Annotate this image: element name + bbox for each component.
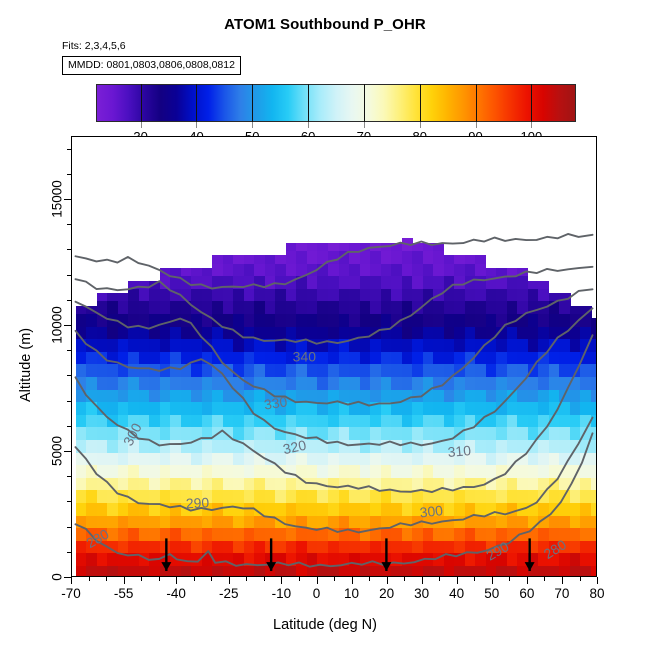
x-axis-tick bbox=[71, 577, 72, 584]
colorbar-separator bbox=[252, 84, 253, 122]
colorbar-tick bbox=[531, 122, 532, 128]
y-axis-minor-tick bbox=[67, 426, 71, 427]
colorbar-tick bbox=[476, 122, 477, 128]
colorbar-tick bbox=[364, 122, 365, 128]
x-axis-tick-label: 50 bbox=[484, 586, 499, 601]
y-axis-tick-label: 10000 bbox=[50, 306, 65, 344]
colorbar-separator bbox=[308, 84, 309, 122]
x-axis-minor-tick bbox=[246, 577, 247, 581]
y-axis-label: Altitude (m) bbox=[18, 327, 34, 401]
y-axis-minor-tick bbox=[67, 300, 71, 301]
y-axis-minor-tick bbox=[67, 149, 71, 150]
x-axis-minor-tick bbox=[264, 577, 265, 581]
colorbar-tick bbox=[308, 122, 309, 128]
colorbar-separator bbox=[420, 84, 421, 122]
y-axis-tick-label: 15000 bbox=[50, 180, 65, 218]
profile-arrow-head bbox=[161, 562, 171, 571]
x-axis-tick bbox=[562, 577, 563, 584]
x-axis-tick bbox=[124, 577, 125, 584]
x-axis-tick bbox=[457, 577, 458, 584]
profile-arrow-markers bbox=[72, 137, 596, 576]
colorbar: 30405060708090100 bbox=[96, 84, 576, 122]
x-axis-tick-label: -10 bbox=[272, 586, 292, 601]
y-axis-tick bbox=[64, 199, 71, 200]
x-axis-minor-tick bbox=[509, 577, 510, 581]
colorbar-tick bbox=[141, 122, 142, 128]
y-axis-tick bbox=[64, 577, 71, 578]
x-axis-minor-tick bbox=[439, 577, 440, 581]
y-axis-minor-tick bbox=[67, 375, 71, 376]
y-axis-minor-tick bbox=[67, 224, 71, 225]
x-axis-tick-label: 20 bbox=[379, 586, 394, 601]
y-axis-minor-tick bbox=[67, 174, 71, 175]
figure-canvas: ATOM1 Southbound P_OHR Fits: 2,3,4,5,6 M… bbox=[0, 0, 650, 650]
colorbar-tick bbox=[196, 122, 197, 128]
x-axis-minor-tick bbox=[106, 577, 107, 581]
y-axis-minor-tick bbox=[67, 552, 71, 553]
y-axis-tick-label: 0 bbox=[50, 573, 65, 581]
x-axis-minor-tick bbox=[580, 577, 581, 581]
x-axis-tick bbox=[176, 577, 177, 584]
x-axis-tick bbox=[229, 577, 230, 584]
colorbar-separator bbox=[141, 84, 142, 122]
x-axis-tick bbox=[597, 577, 598, 584]
colorbar-separator bbox=[476, 84, 477, 122]
x-axis-label: Latitude (deg N) bbox=[0, 617, 650, 633]
x-axis-tick-label: 30 bbox=[414, 586, 429, 601]
x-axis-tick-label: 80 bbox=[589, 586, 604, 601]
x-axis-tick bbox=[527, 577, 528, 584]
x-axis-minor-tick bbox=[141, 577, 142, 581]
colorbar-separator bbox=[531, 84, 532, 122]
y-axis-tick-label: 5000 bbox=[50, 436, 65, 466]
profile-arrow-head bbox=[525, 562, 535, 571]
x-axis-minor-tick bbox=[89, 577, 90, 581]
x-axis-minor-tick bbox=[194, 577, 195, 581]
colorbar-tick bbox=[420, 122, 421, 128]
x-axis-tick bbox=[317, 577, 318, 584]
x-axis-tick bbox=[352, 577, 353, 584]
x-axis-tick-label: 70 bbox=[554, 586, 569, 601]
y-axis-tick bbox=[64, 451, 71, 452]
y-axis-minor-tick bbox=[67, 249, 71, 250]
profile-arrow-head bbox=[266, 562, 276, 571]
plot-area: 340330320310300300290290280280 bbox=[71, 136, 597, 577]
x-axis-tick bbox=[387, 577, 388, 584]
chart-title: ATOM1 Southbound P_OHR bbox=[0, 16, 650, 33]
x-axis-minor-tick bbox=[334, 577, 335, 581]
colorbar-tick bbox=[252, 122, 253, 128]
colorbar-ticks bbox=[96, 122, 576, 129]
x-axis-tick-label: -25 bbox=[219, 586, 239, 601]
y-axis-minor-tick bbox=[67, 350, 71, 351]
x-axis-tick bbox=[492, 577, 493, 584]
x-axis-minor-tick bbox=[299, 577, 300, 581]
colorbar-separator bbox=[196, 84, 197, 122]
colorbar-separators bbox=[96, 84, 576, 122]
x-axis-tick bbox=[281, 577, 282, 584]
x-axis-tick-label: 0 bbox=[313, 586, 321, 601]
x-axis-minor-tick bbox=[159, 577, 160, 581]
x-axis-tick-label: 40 bbox=[449, 586, 464, 601]
y-axis-minor-tick bbox=[67, 527, 71, 528]
x-axis-tick-label: -40 bbox=[166, 586, 186, 601]
x-axis-minor-tick bbox=[369, 577, 370, 581]
x-axis-minor-tick bbox=[404, 577, 405, 581]
fits-label: Fits: 2,3,4,5,6 bbox=[62, 40, 126, 52]
x-axis-minor-tick bbox=[544, 577, 545, 581]
x-axis-minor-tick bbox=[474, 577, 475, 581]
x-axis-minor-tick bbox=[211, 577, 212, 581]
mmdd-label: MMDD: 0801,0803,0806,0808,0812 bbox=[62, 56, 241, 75]
profile-arrow-head bbox=[381, 562, 391, 571]
x-axis-tick-label: 60 bbox=[519, 586, 534, 601]
colorbar-separator bbox=[364, 84, 365, 122]
x-axis-tick-label: -70 bbox=[61, 586, 81, 601]
y-axis-minor-tick bbox=[67, 501, 71, 502]
y-axis-minor-tick bbox=[67, 476, 71, 477]
y-axis-minor-tick bbox=[67, 401, 71, 402]
x-axis-tick bbox=[422, 577, 423, 584]
x-axis-tick-label: -55 bbox=[114, 586, 134, 601]
y-axis-minor-tick bbox=[67, 275, 71, 276]
x-axis-tick-label: 10 bbox=[344, 586, 359, 601]
y-axis-tick bbox=[64, 325, 71, 326]
